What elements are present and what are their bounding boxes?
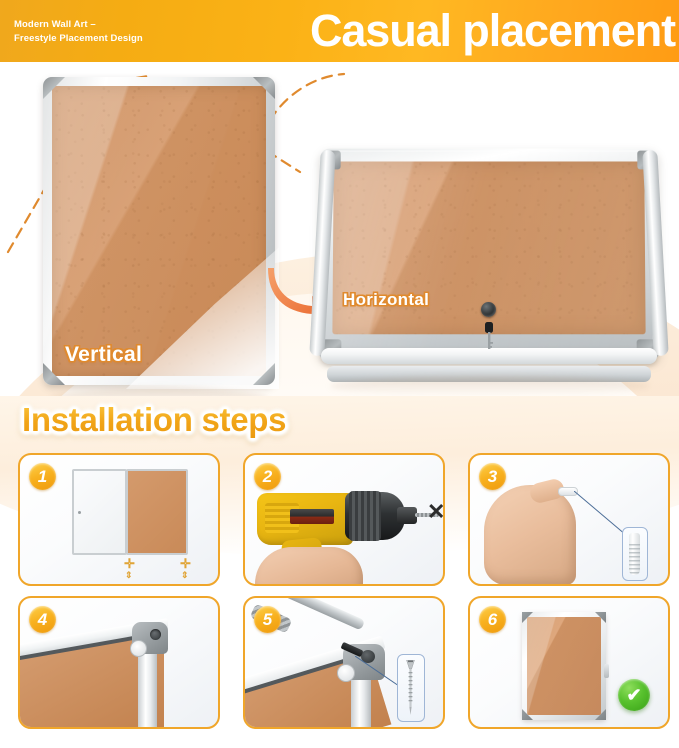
step-panel-insert-wall-anchor: 3 <box>468 453 670 586</box>
step-panel-installation-complete: 6 ✔ <box>468 596 670 729</box>
keys-icon <box>483 322 495 352</box>
mounting-hole <box>150 629 161 640</box>
hero-product-stage: Vertical Horizontal <box>0 62 679 402</box>
header-subtitle: Modern Wall Art – Freestyle Placement De… <box>14 18 189 46</box>
frame-side-rail <box>138 644 157 729</box>
screw-callout <box>397 654 425 722</box>
step-number-badge: 5 <box>254 606 281 633</box>
horizontal-orientation-label: Horizontal <box>343 290 429 310</box>
cork-texture <box>52 86 266 376</box>
check-glyph: ✔ <box>626 686 641 704</box>
horizontal-board-product: Horizontal <box>313 142 665 382</box>
installation-section: Installation steps 1 ✛ ✛ ⇕ ⇕ 2 <box>0 396 679 748</box>
step-number-badge: 6 <box>479 606 506 633</box>
anchor-ribs <box>629 544 640 575</box>
header-subtitle-line1: Modern Wall Art – <box>14 18 189 32</box>
step-number-badge: 3 <box>479 463 506 490</box>
header-subtitle-line2: Freestyle Placement Design <box>14 32 189 46</box>
page-header: Modern Wall Art – Freestyle Placement De… <box>0 0 679 62</box>
measure-arrow-right: ⇕ <box>181 571 189 580</box>
step-panel-measure-and-mark: 1 ✛ ✛ ⇕ ⇕ <box>18 453 220 586</box>
step-panel-drill-holes: 2 ✕ <box>243 453 445 586</box>
step-number-badge: 4 <box>29 606 56 633</box>
step-panel-fasten-screws: 5 <box>243 596 445 729</box>
vertical-board-frame <box>43 77 275 385</box>
step-number-badge: 2 <box>254 463 281 490</box>
screw-icon <box>406 660 415 716</box>
installation-steps-grid: 1 ✛ ✛ ⇕ ⇕ 2 <box>18 453 670 729</box>
vertical-orientation-label: Vertical <box>65 343 142 367</box>
drill-nose <box>397 507 417 524</box>
mark-cross-right: ✛ <box>180 559 191 568</box>
drill-target-x-mark: ✕ <box>427 501 445 523</box>
wall-anchor-callout <box>622 527 648 581</box>
door-handle <box>604 664 609 678</box>
mini-board-cork <box>126 469 188 555</box>
vertical-board-cork-surface <box>52 86 266 376</box>
page-title: Casual placement <box>310 2 675 60</box>
step-number-badge: 1 <box>29 463 56 490</box>
drill-clutch-ring <box>349 491 381 541</box>
success-check-icon: ✔ <box>618 679 650 711</box>
mark-cross-left: ✛ <box>124 559 135 568</box>
lock-cylinder-icon <box>481 302 496 317</box>
hinge-pin <box>337 664 355 682</box>
glass-reflection <box>522 612 606 720</box>
measure-arrow-left: ⇕ <box>125 571 133 580</box>
hinge-dot <box>78 511 81 514</box>
mini-board-whiteboard <box>72 469 127 555</box>
installed-board-frame <box>522 612 606 720</box>
hand-gripping-drill <box>255 547 363 586</box>
drill-label-plate <box>290 509 334 524</box>
installation-section-title: Installation steps <box>22 401 286 439</box>
hinge-pin <box>130 640 147 657</box>
horizontal-board-reflection <box>330 376 650 396</box>
hand-holding-anchor <box>484 485 576 585</box>
step-panel-align-board-corner: 4 <box>18 596 220 729</box>
callout-leader-line <box>355 656 403 690</box>
vertical-board-product: Vertical <box>43 77 275 385</box>
